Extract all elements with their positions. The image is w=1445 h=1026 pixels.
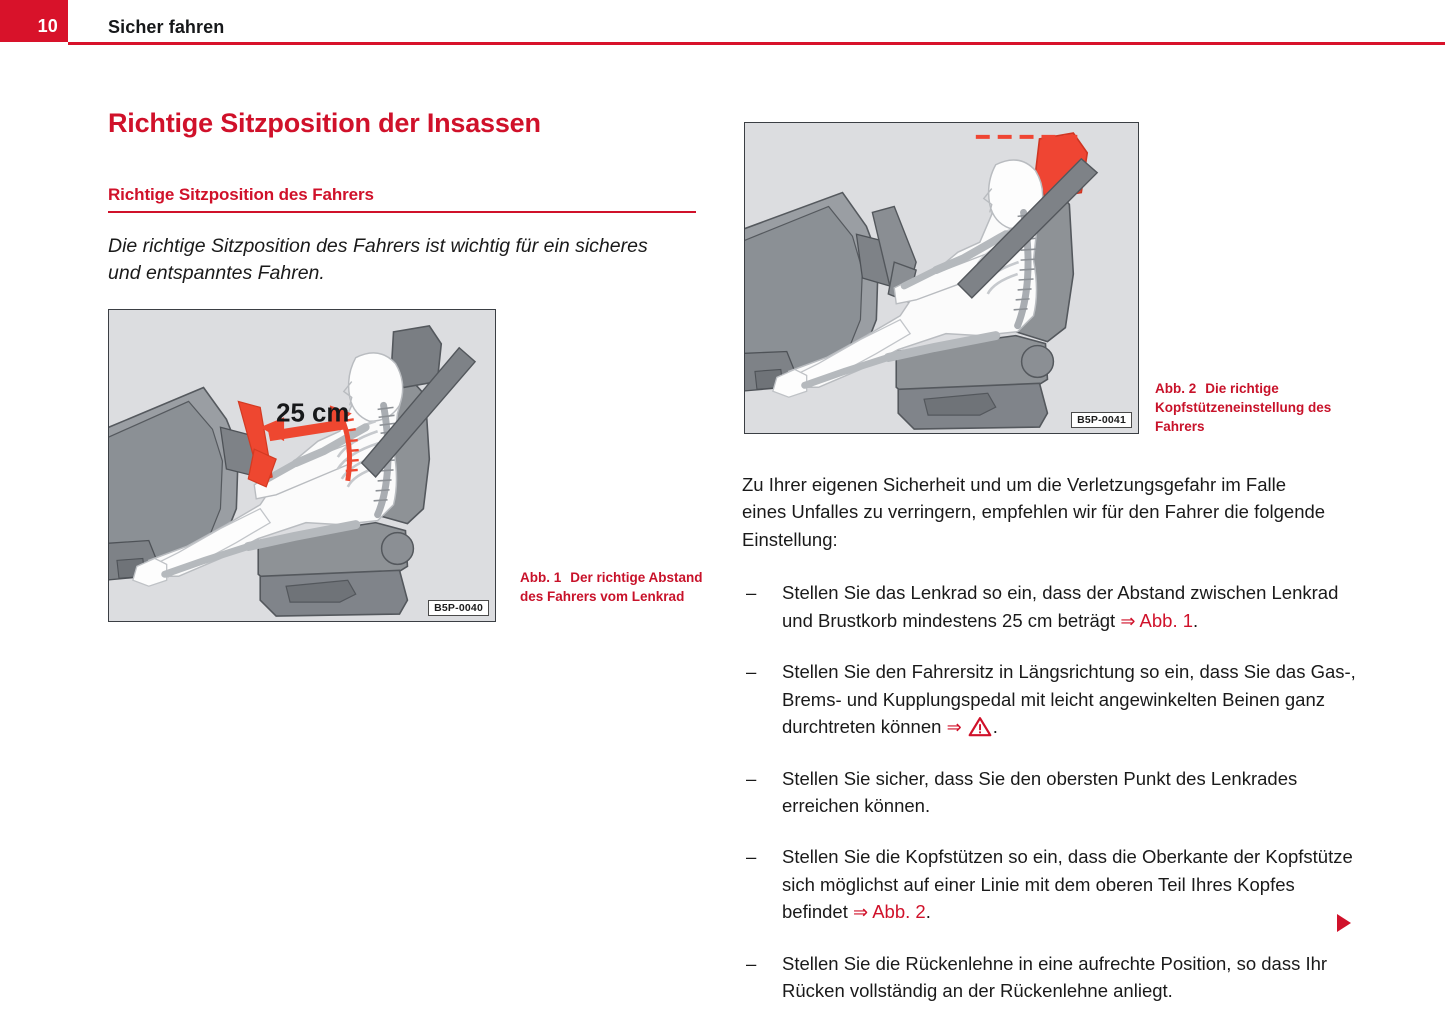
- list-item-text-after: .: [1193, 610, 1198, 631]
- section-title: Richtige Sitzposition des Fahrers: [108, 185, 696, 205]
- figure-reference-link[interactable]: ⇒ Abb. 2: [853, 901, 926, 922]
- figure-1-annotation: 25 cm: [276, 399, 349, 427]
- bullet-dash: –: [746, 765, 756, 792]
- figure-reference-label: Abb. 2: [868, 901, 926, 922]
- figure-1: 25 cm B5P-0040: [108, 309, 496, 622]
- manual-page: 10 Sicher fahren Richtige Sitzposition d…: [0, 0, 1445, 1026]
- warning-reference-link[interactable]: ⇒: [947, 716, 993, 737]
- page-number-block: 10: [0, 0, 68, 42]
- continuation-arrow-icon: [1337, 914, 1351, 932]
- instructions-block: Zu Ihrer eigenen Sicherheit und um die V…: [742, 471, 1342, 1004]
- figure-2: B5P-0041: [744, 122, 1139, 434]
- figure-2-caption: Abb. 2Die richtige Kopfstützeneinstellun…: [1155, 379, 1340, 436]
- double-arrow-icon: ⇒: [1120, 611, 1135, 631]
- instruction-list: – Stellen Sie das Lenkrad so ein, dass d…: [742, 579, 1342, 1004]
- double-arrow-icon: ⇒: [853, 902, 868, 922]
- lead-paragraph: Die richtige Sitzposition des Fahrers is…: [108, 233, 648, 288]
- left-column: Richtige Sitzposition der Insassen Richt…: [108, 108, 708, 288]
- list-item: – Stellen Sie das Lenkrad so ein, dass d…: [742, 579, 1362, 634]
- list-item-text-after: .: [993, 716, 998, 737]
- chapter-title: Sicher fahren: [108, 17, 224, 38]
- list-item: – Stellen Sie sicher, dass Sie den obers…: [742, 765, 1362, 820]
- list-item: – Stellen Sie die Rückenlehne in eine au…: [742, 950, 1362, 1005]
- figure-1-caption: Abb. 1Der richtige Abstand des Fahrers v…: [520, 568, 710, 606]
- figure-reference-label: Abb. 1: [1135, 610, 1193, 631]
- figure-2-code: B5P-0041: [1071, 412, 1132, 428]
- page-title: Richtige Sitzposition der Insassen: [108, 108, 708, 139]
- bullet-dash: –: [746, 843, 756, 870]
- figure-1-code: B5P-0040: [428, 600, 489, 616]
- header-divider: [68, 42, 1445, 45]
- list-item-text-after: .: [926, 901, 931, 922]
- figure-1-illustration: 25 cm: [109, 310, 495, 621]
- figure-2-caption-label: Abb. 2: [1155, 381, 1196, 396]
- figure-reference-link[interactable]: ⇒ Abb. 1: [1120, 610, 1193, 631]
- section-divider: [108, 211, 696, 213]
- bullet-dash: –: [746, 579, 756, 606]
- bullet-dash: –: [746, 950, 756, 977]
- double-arrow-icon: ⇒: [947, 717, 962, 737]
- section-heading-group: Richtige Sitzposition des Fahrers: [108, 185, 696, 213]
- intro-paragraph: Zu Ihrer eigenen Sicherheit und um die V…: [742, 471, 1330, 553]
- page-number: 10: [38, 16, 58, 37]
- page-header: 10 Sicher fahren: [0, 0, 1445, 46]
- figure-1-caption-label: Abb. 1: [520, 570, 561, 585]
- list-item-text: Stellen Sie die Rückenlehne in eine aufr…: [782, 953, 1327, 1001]
- list-item: – Stellen Sie die Kopfstützen so ein, da…: [742, 843, 1362, 925]
- bullet-dash: –: [746, 658, 756, 685]
- warning-triangle-icon: [968, 716, 992, 737]
- list-item: – Stellen Sie den Fahrersitz in Längsric…: [742, 658, 1362, 740]
- list-item-text: Stellen Sie das Lenkrad so ein, dass der…: [782, 582, 1338, 630]
- figure-2-illustration: [745, 123, 1138, 433]
- list-item-text: Stellen Sie den Fahrersitz in Längsricht…: [782, 661, 1356, 737]
- list-item-text: Stellen Sie sicher, dass Sie den oberste…: [782, 768, 1297, 816]
